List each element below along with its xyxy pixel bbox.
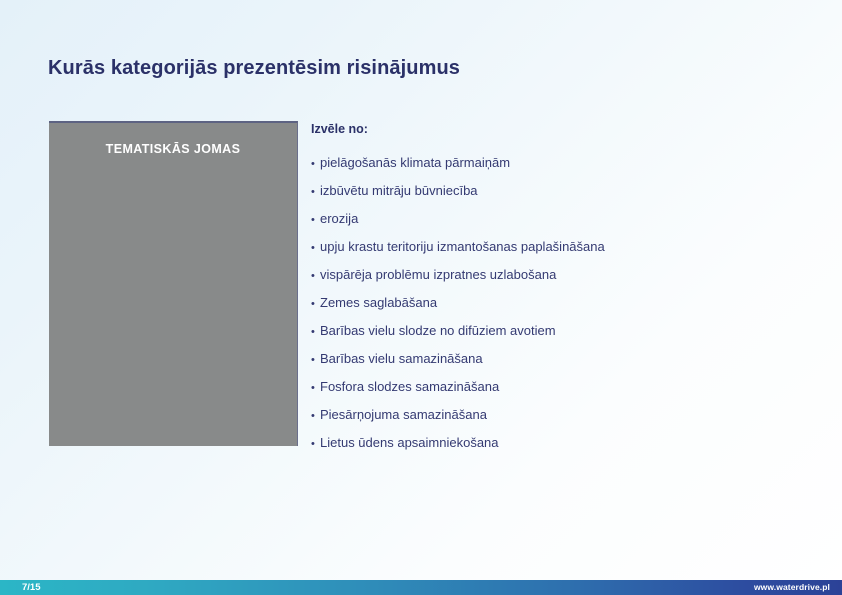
list-item-label: Piesārņojuma samazināšana <box>320 401 487 429</box>
list-item: • Zemes saglabāšana <box>311 289 791 317</box>
thematic-areas-panel: TEMATISKĀS JOMAS <box>49 121 298 446</box>
presentation-slide: Kurās kategorijās prezentēsim risinājumu… <box>0 0 842 595</box>
bullet-icon: • <box>311 374 320 402</box>
list-item-label: Fosfora slodzes samazināšana <box>320 373 499 401</box>
bullet-icon: • <box>311 206 320 234</box>
list-item-label: Zemes saglabāšana <box>320 289 437 317</box>
list-item: • vispārēja problēmu izpratnes uzlabošan… <box>311 261 791 289</box>
bullet-icon: • <box>311 430 320 458</box>
list-item: • Piesārņojuma samazināšana <box>311 401 791 429</box>
bullet-icon: • <box>311 402 320 430</box>
thematic-areas-panel-label: TEMATISKĀS JOMAS <box>49 142 297 156</box>
list-item: • Fosfora slodzes samazināšana <box>311 373 791 401</box>
page-number: 7/15 <box>22 580 41 595</box>
list-item: • Barības vielu samazināšana <box>311 345 791 373</box>
bullet-icon: • <box>311 262 320 290</box>
bullet-icon: • <box>311 150 320 178</box>
list-item-label: Barības vielu samazināšana <box>320 345 483 373</box>
page-title: Kurās kategorijās prezentēsim risinājumu… <box>48 57 460 80</box>
slide-footer: 7/15 www.waterdrive.pl <box>0 580 842 595</box>
list-item-label: pielāgošanās klimata pārmaiņām <box>320 149 510 177</box>
bullet-icon: • <box>311 290 320 318</box>
list-item: • upju krastu teritoriju izmantošanas pa… <box>311 233 791 261</box>
list-item-label: upju krastu teritoriju izmantošanas papl… <box>320 233 605 261</box>
bullet-icon: • <box>311 318 320 346</box>
list-item-label: Barības vielu slodze no difūziem avotiem <box>320 317 556 345</box>
list-item-label: izbūvētu mitrāju būvniecība <box>320 177 478 205</box>
list-item: • erozija <box>311 205 791 233</box>
bullet-icon: • <box>311 234 320 262</box>
list-item-label: erozija <box>320 205 358 233</box>
choice-list-heading: Izvēle no: <box>311 121 791 137</box>
list-item: • Lietus ūdens apsaimniekošana <box>311 429 791 457</box>
bullet-icon: • <box>311 178 320 206</box>
list-item-label: vispārēja problēmu izpratnes uzlabošana <box>320 261 556 289</box>
list-item-label: Lietus ūdens apsaimniekošana <box>320 429 499 457</box>
list-item: • Barības vielu slodze no difūziem avoti… <box>311 317 791 345</box>
footer-website-link[interactable]: www.waterdrive.pl <box>754 580 830 595</box>
choice-list: Izvēle no: • pielāgošanās klimata pārmai… <box>311 121 791 457</box>
list-item: • pielāgošanās klimata pārmaiņām <box>311 149 791 177</box>
bullet-icon: • <box>311 346 320 374</box>
list-item: • izbūvētu mitrāju būvniecība <box>311 177 791 205</box>
